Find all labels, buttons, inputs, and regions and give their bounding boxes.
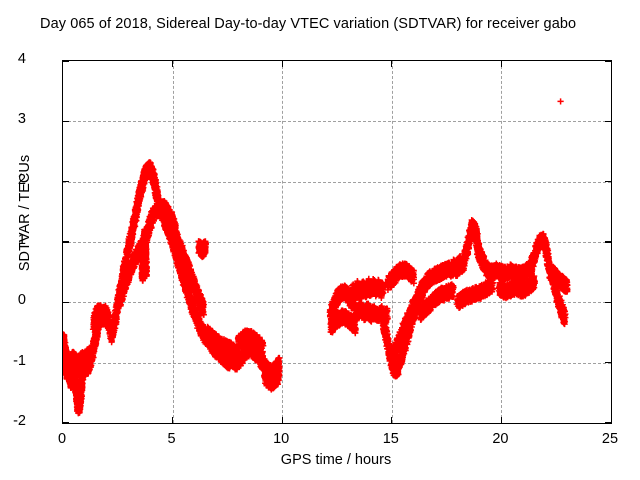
x-tick-mark <box>282 417 283 423</box>
y-tick-label: 2 <box>0 172 26 188</box>
y-tick-mark <box>63 241 69 242</box>
y-tick-mark <box>63 422 69 423</box>
x-tick-mark <box>172 417 173 423</box>
gridline-vertical <box>392 61 393 423</box>
y-tick-mark <box>63 60 69 61</box>
x-tick-mark <box>391 61 392 67</box>
gridline-vertical <box>173 61 174 423</box>
y-tick-mark <box>63 362 69 363</box>
y-tick-mark <box>605 422 611 423</box>
gridline-horizontal <box>63 242 611 243</box>
x-tick-mark <box>501 417 502 423</box>
y-tick-label: 3 <box>0 111 26 127</box>
y-tick-mark <box>63 181 69 182</box>
x-tick-label: 25 <box>590 431 630 447</box>
y-tick-mark <box>605 362 611 363</box>
x-tick-label: 0 <box>42 431 82 447</box>
plot-area <box>62 60 612 424</box>
y-axis-label: SDTVAR / TECUs <box>17 133 33 293</box>
y-tick-label: -1 <box>0 353 26 369</box>
x-tick-label: 15 <box>371 431 411 447</box>
x-axis-label: GPS time / hours <box>62 452 610 468</box>
y-tick-label: -2 <box>0 413 26 429</box>
x-tick-mark <box>501 61 502 67</box>
gridline-vertical <box>501 61 502 423</box>
plot-figure: Day 065 of 2018, Sidereal Day-to-day VTE… <box>0 0 640 480</box>
gridline-horizontal <box>63 182 611 183</box>
y-tick-label: 4 <box>0 51 26 67</box>
x-tick-mark <box>282 61 283 67</box>
y-tick-mark <box>605 302 611 303</box>
plot-title: Day 065 of 2018, Sidereal Day-to-day VTE… <box>40 16 576 32</box>
x-tick-label: 10 <box>261 431 301 447</box>
y-tick-mark <box>63 121 69 122</box>
y-tick-mark <box>63 302 69 303</box>
y-tick-label: 1 <box>0 232 26 248</box>
x-tick-label: 5 <box>152 431 192 447</box>
y-tick-mark <box>605 60 611 61</box>
gridline-horizontal <box>63 363 611 364</box>
x-tick-mark <box>172 61 173 67</box>
x-tick-label: 20 <box>480 431 520 447</box>
x-tick-mark <box>391 417 392 423</box>
y-tick-label: 0 <box>0 292 26 308</box>
y-tick-mark <box>605 241 611 242</box>
gridline-horizontal <box>63 121 611 122</box>
y-tick-mark <box>605 181 611 182</box>
y-tick-mark <box>605 121 611 122</box>
gridline-vertical <box>282 61 283 423</box>
gridline-horizontal <box>63 302 611 303</box>
